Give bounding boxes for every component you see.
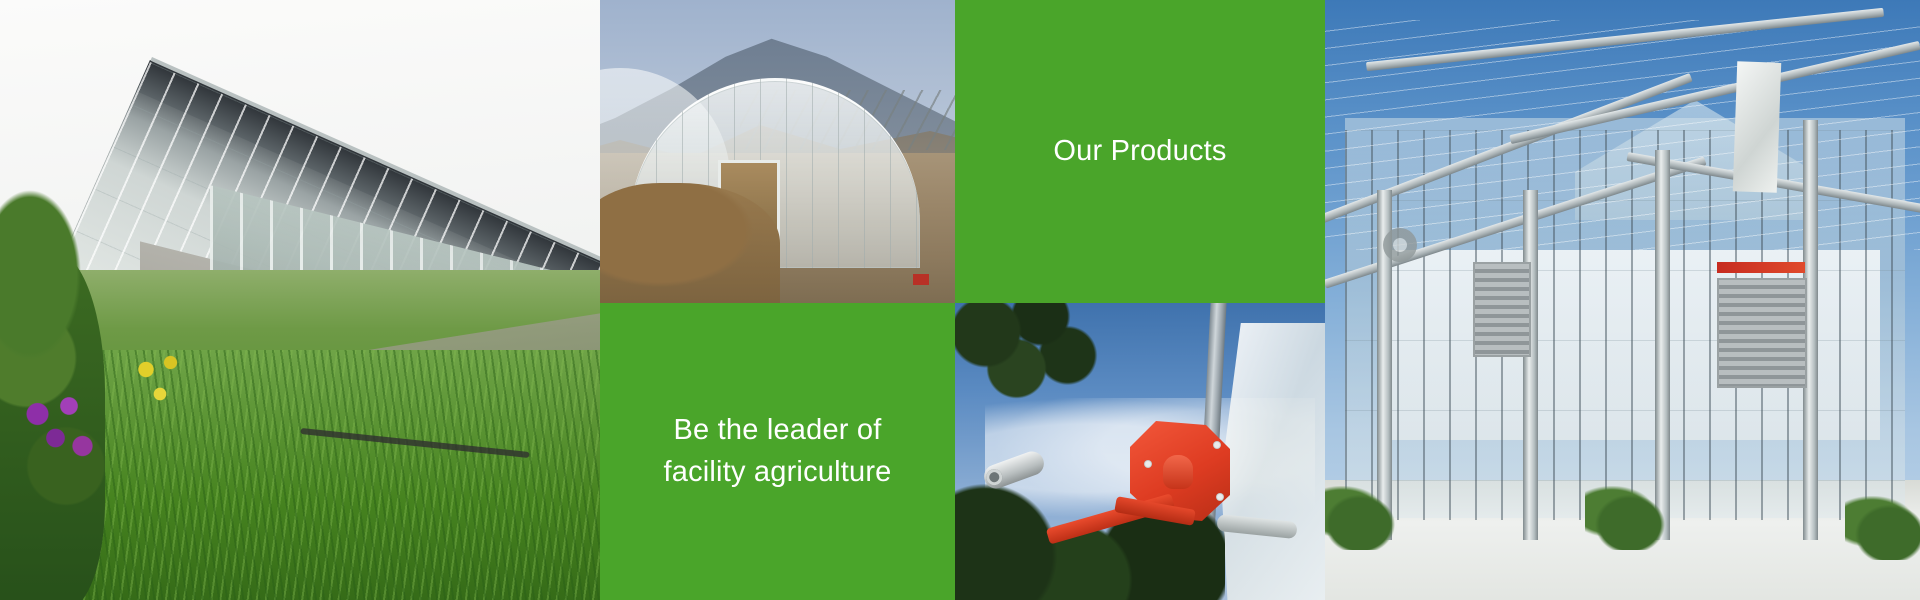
winch-screw [1213, 441, 1221, 449]
hero-banner: Our Products Be the leader of facility a… [0, 0, 1920, 600]
winch-hub [1163, 455, 1193, 489]
shrub [1845, 496, 1920, 560]
yellow-flowers [125, 345, 195, 415]
winch-screw [1144, 460, 1152, 468]
photo-plastic-tunnel [600, 0, 955, 303]
roof-vent-flap [1733, 61, 1782, 192]
photo-greenhouse-row [0, 0, 600, 600]
shrub [1585, 486, 1675, 550]
purple-flowers [15, 390, 105, 470]
promo-our-products-heading: Our Products [1039, 131, 1240, 172]
support-column [1523, 190, 1538, 540]
promo-slogan-text-block: Be the leader of facility agriculture [649, 410, 905, 492]
promo-slogan[interactable]: Be the leader of facility agriculture [600, 303, 955, 600]
tree-icon [0, 175, 90, 375]
tree-foliage-top [955, 303, 1105, 423]
wall-louver-vent [1717, 278, 1807, 388]
circulation-fan-icon [1383, 228, 1417, 262]
photo-crank-winch [955, 303, 1325, 600]
wall-louver-vent [1473, 262, 1531, 357]
promo-slogan-line-1: Be the leader of [649, 410, 905, 451]
support-column [1655, 150, 1670, 540]
shrub [1325, 486, 1405, 550]
greenhouse-plastic-film [1221, 323, 1325, 600]
red-label-strip [1717, 262, 1805, 273]
photo-venlo-greenhouse [1325, 0, 1920, 600]
red-marker [913, 274, 929, 285]
excavated-soil-mound [600, 183, 780, 303]
roof-support-wires [1325, 20, 1920, 250]
winch-screw [1216, 493, 1224, 501]
promo-slogan-line-2: facility agriculture [649, 452, 905, 493]
promo-our-products[interactable]: Our Products [955, 0, 1325, 303]
